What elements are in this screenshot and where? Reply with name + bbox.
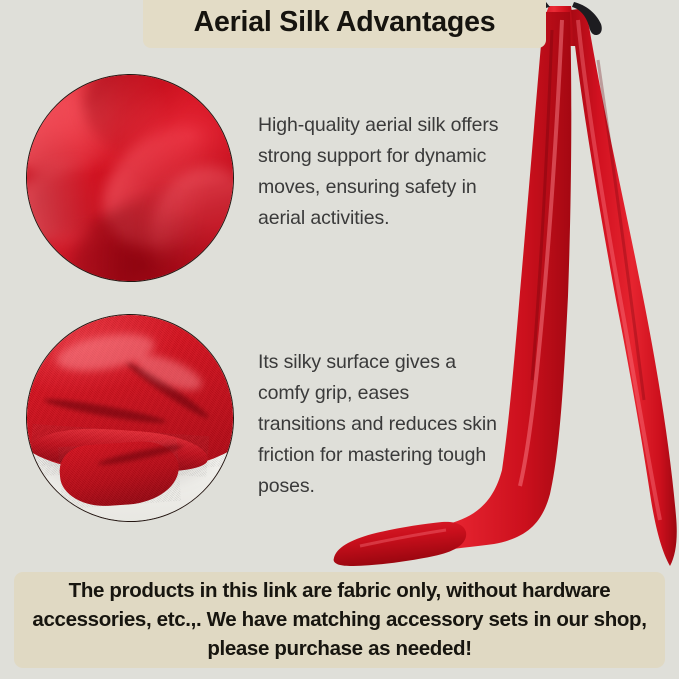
disclaimer-banner: The products in this link are fabric onl… [14, 572, 665, 668]
page-title: Aerial Silk Advantages [194, 6, 496, 39]
feature-support-text: High-quality aerial silk offers strong s… [258, 110, 514, 234]
silk-pooled-fabric [334, 522, 467, 566]
red-silk-drape-photo [26, 74, 234, 282]
folded-red-fabric-photo [26, 314, 234, 522]
feature-grip-text: Its silky surface gives a comfy grip, ea… [258, 347, 502, 502]
aerial-silk-infographic: Aerial Silk Advantages High-quality aeri… [0, 0, 679, 679]
disclaimer-text: The products in this link are fabric onl… [22, 576, 657, 663]
drape-photo-content [27, 75, 233, 281]
folded-photo-content [27, 315, 233, 521]
title-banner: Aerial Silk Advantages [143, 0, 546, 48]
